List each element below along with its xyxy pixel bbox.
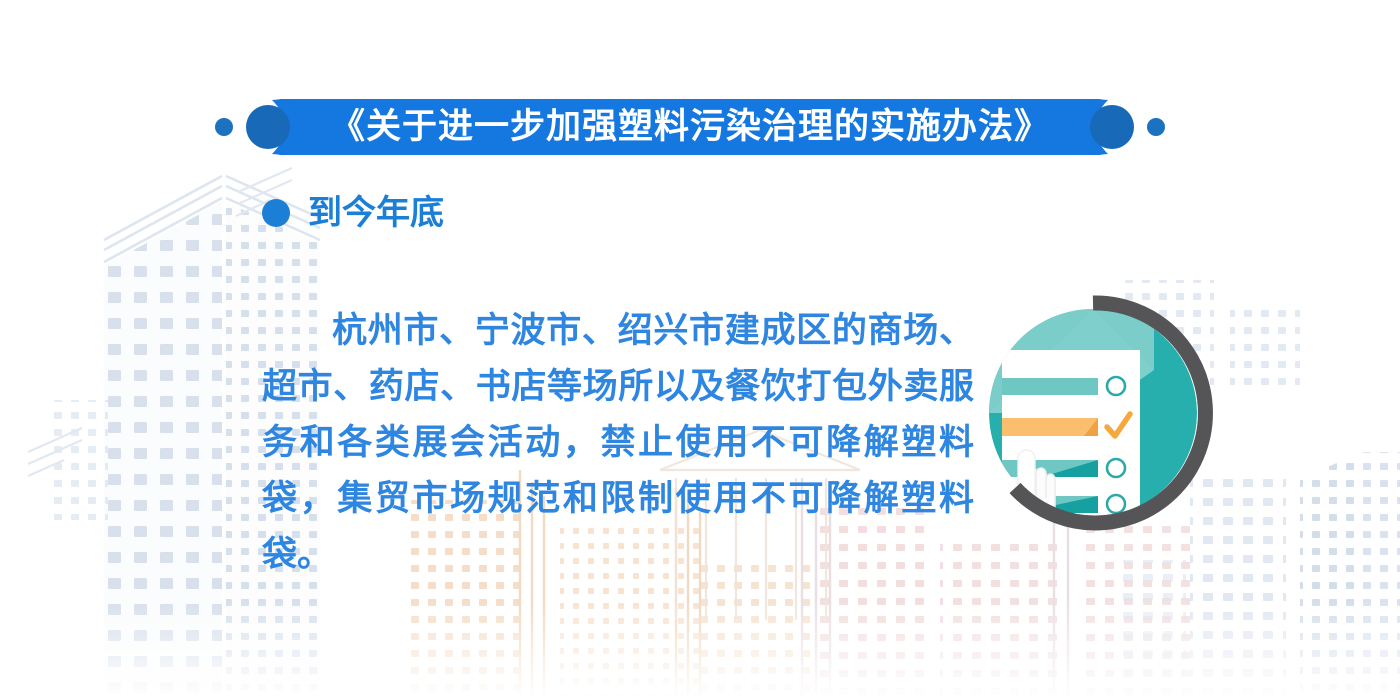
row-bar: [982, 532, 1098, 549]
banner-left-circle-icon: [246, 105, 290, 149]
checklist-illustration: [958, 282, 1228, 552]
checklist-row: [982, 531, 1125, 549]
page-title: 《关于进一步加强塑料污染治理的实施办法》: [330, 110, 1050, 145]
bg-accent-strokes: [28, 168, 292, 476]
subhead-label: 到今年底: [308, 196, 444, 230]
banner-right-circle-icon: [1090, 105, 1134, 149]
subhead-group: 到今年底: [262, 196, 444, 230]
banner-left-dot-icon: [215, 118, 233, 136]
subhead-bullet-icon: [262, 199, 290, 227]
body-paragraph: 杭州市、宁波市、绍兴市建成区的商场、超市、药店、书店等场所以及餐饮打包外卖服务和…: [262, 303, 974, 583]
banner-right-dot-icon: [1147, 118, 1165, 136]
checkbox-empty-icon[interactable]: [1107, 531, 1125, 549]
infographic-slide: 《关于进一步加强塑料污染治理的实施办法》 到今年底 杭州市、宁波市、绍兴市建成区…: [0, 0, 1400, 700]
title-banner: 《关于进一步加强塑料污染治理的实施办法》: [210, 98, 1170, 156]
bg-dot-cluster-left: [48, 400, 108, 520]
